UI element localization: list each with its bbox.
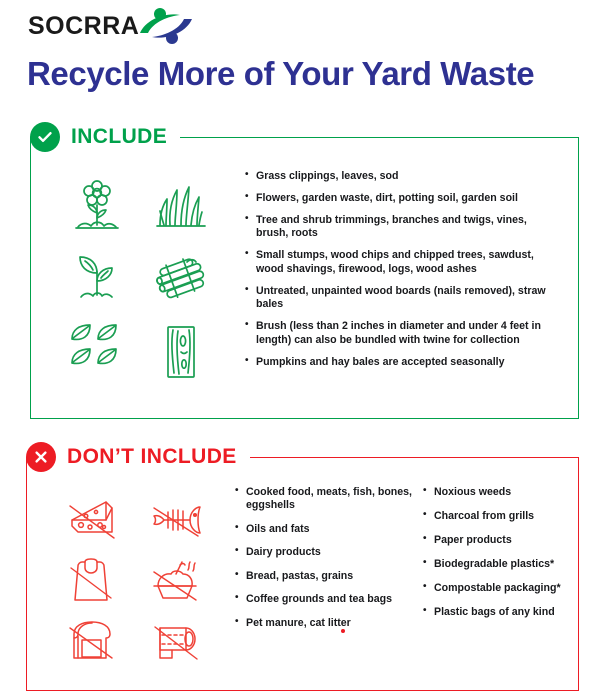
exclude-icon-grid <box>49 490 217 670</box>
exclude-box: Cooked food, meats, fish, bones, eggshel… <box>26 457 579 691</box>
exclude-bullet-columns: Cooked food, meats, fish, bones, eggshel… <box>235 486 598 640</box>
exclude-heading: DON’T INCLUDE <box>67 445 237 469</box>
flower-in-soil-icon <box>55 172 139 244</box>
list-item: Charcoal from grills <box>423 510 598 523</box>
list-item: Brush (less than 2 inches in diameter an… <box>245 320 562 347</box>
grass-tuft-icon <box>139 172 223 244</box>
list-item: Grass clippings, leaves, sod <box>245 170 562 183</box>
check-circle-icon <box>30 122 60 152</box>
list-item: Plastic bags of any kind <box>423 606 598 619</box>
sprout-seedling-icon <box>55 244 139 316</box>
list-item: Tree and shrub trimmings, branches and t… <box>245 214 562 241</box>
include-section: INCLUDE <box>30 120 579 419</box>
include-header: INCLUDE <box>30 120 579 154</box>
wood-board-icon <box>139 316 223 388</box>
include-box: Grass clippings, leaves, sod Flowers, ga… <box>30 137 579 419</box>
people-swoosh-logo-icon <box>136 6 196 46</box>
exclude-header-rule <box>250 457 579 458</box>
list-item: Dairy products <box>235 546 417 559</box>
list-item: Pumpkins and hay bales are accepted seas… <box>245 356 562 369</box>
list-item: Untreated, unpainted wood boards (nails … <box>245 285 562 312</box>
list-item: Noxious weeds <box>423 486 598 499</box>
brand-logo: SOCRRA <box>28 6 196 46</box>
exclude-bullet-list-col1: Cooked food, meats, fish, bones, eggshel… <box>235 486 417 640</box>
no-bread-loaf-icon <box>49 610 133 670</box>
list-item: Oils and fats <box>235 523 417 536</box>
no-toilet-paper-roll-icon <box>133 610 217 670</box>
page-title: Recycle More of Your Yard Waste <box>27 56 534 92</box>
list-item: Paper products <box>423 534 598 547</box>
no-plastic-bag-icon <box>49 550 133 610</box>
include-icon-grid <box>55 172 223 388</box>
list-item: Bread, pastas, grains <box>235 570 417 583</box>
list-item: Small stumps, wood chips and chipped tre… <box>245 249 562 276</box>
no-hot-food-plate-icon <box>133 550 217 610</box>
include-header-rule <box>180 137 579 138</box>
x-circle-icon <box>26 442 56 472</box>
no-fish-bones-icon <box>133 490 217 550</box>
list-item: Biodegradable plastics* <box>423 558 598 571</box>
exclude-bullet-list-col2: Noxious weeds Charcoal from grills Paper… <box>423 486 598 640</box>
list-item: Pet manure, cat litter <box>235 617 417 630</box>
exclude-section: DON’T INCLUDE <box>26 440 579 691</box>
log-bundle-icon <box>139 244 223 316</box>
list-item: Compostable packaging* <box>423 582 598 595</box>
include-bullet-list: Grass clippings, leaves, sod Flowers, ga… <box>245 170 562 369</box>
no-cheese-icon <box>49 490 133 550</box>
brand-name: SOCRRA <box>28 14 139 39</box>
list-item: Coffee grounds and tea bags <box>235 593 417 606</box>
include-heading: INCLUDE <box>71 125 167 149</box>
list-item: Cooked food, meats, fish, bones, eggshel… <box>235 486 417 513</box>
four-leaves-icon <box>55 316 139 388</box>
exclude-header: DON’T INCLUDE <box>26 440 579 474</box>
list-item: Flowers, garden waste, dirt, potting soi… <box>245 192 562 205</box>
